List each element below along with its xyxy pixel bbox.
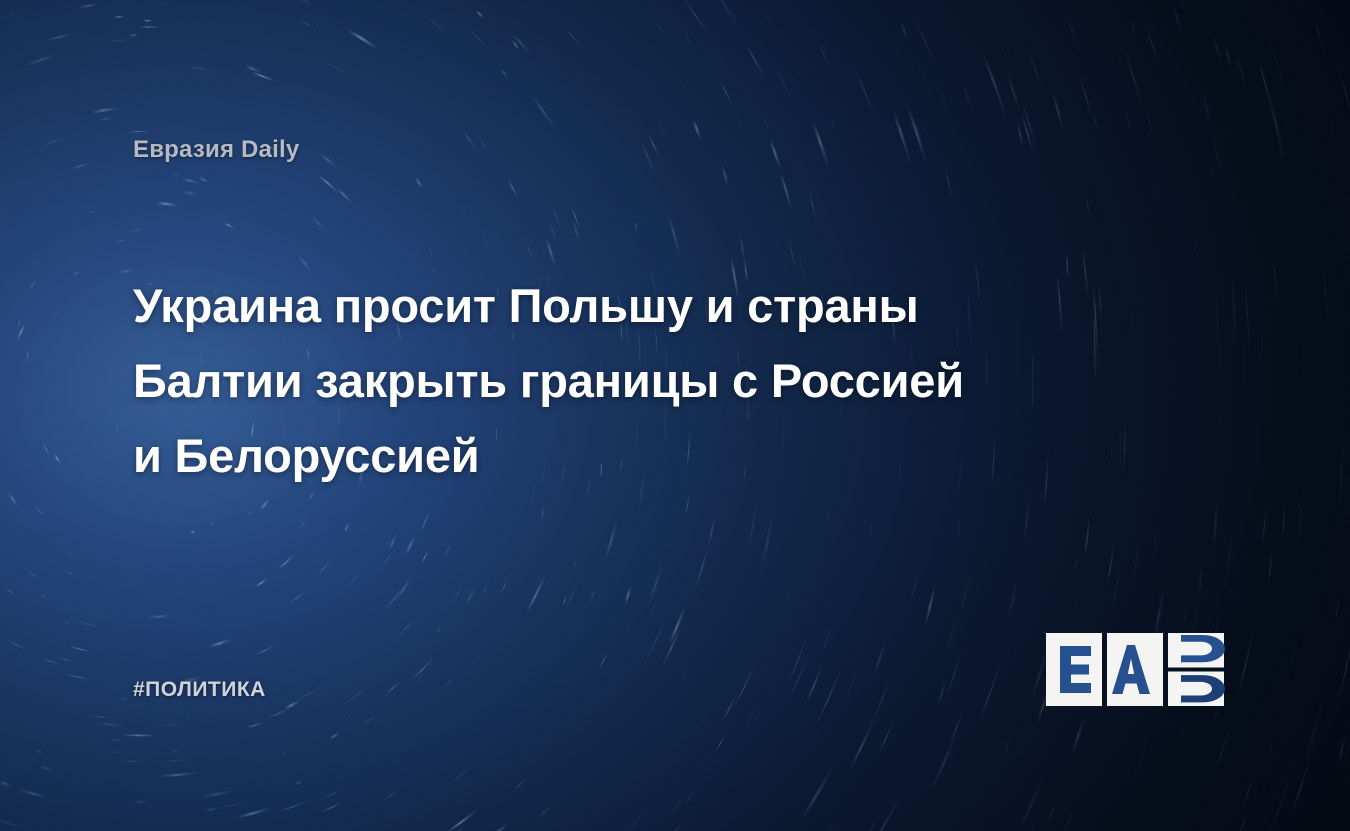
brand-label: Евразия Daily xyxy=(133,136,299,164)
headline-line-1: Украина просит Польшу и страны xyxy=(133,268,1113,343)
headline: Украина просит Польшу и страны Балтии за… xyxy=(133,268,1113,493)
news-social-card: Евразия Daily Украина просит Польшу и ст… xyxy=(0,0,1350,831)
eadaily-logo xyxy=(1046,633,1226,707)
headline-line-3: и Белоруссией xyxy=(133,418,1113,493)
letter-a-tile xyxy=(1107,633,1163,706)
category-hashtag: #ПОЛИТИКА xyxy=(133,678,266,702)
letter-e-tile xyxy=(1046,633,1102,706)
split-d-tile xyxy=(1168,633,1225,706)
headline-line-2: Балтии закрыть границы с Россией xyxy=(133,343,1113,418)
